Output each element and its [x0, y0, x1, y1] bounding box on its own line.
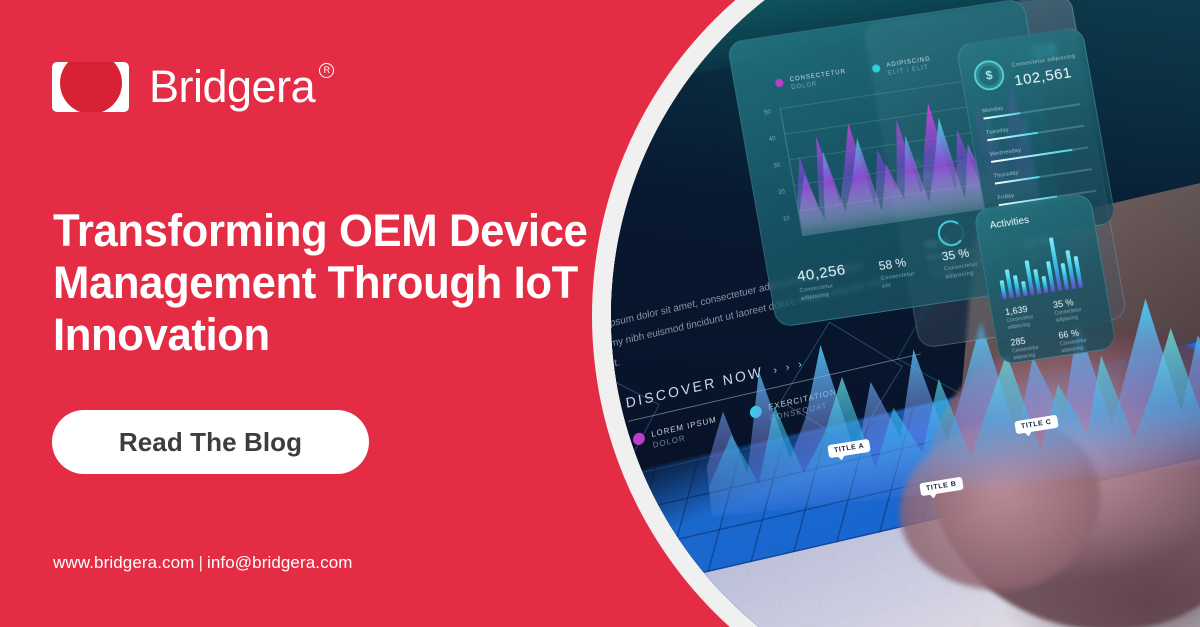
- activities-bar-chart: [993, 231, 1094, 300]
- legend-dot-icon: [775, 78, 784, 87]
- axis-tick: 30: [773, 163, 781, 170]
- promo-banner: COMMUNITY CONTACT US Lorem ipsum dolor s…: [0, 0, 1200, 627]
- legend-item: ADIPISCING ELIT / ELIT: [871, 55, 933, 80]
- axis-tick: 10: [783, 216, 791, 223]
- footer-email-link[interactable]: info@bridgera.com: [207, 553, 353, 572]
- hero-photo: COMMUNITY CONTACT US Lorem ipsum dolor s…: [611, 0, 1200, 627]
- page-title: Transforming OEM Device Management Throu…: [53, 205, 611, 361]
- stat-item: 285 Consectetur adipiscing: [1010, 332, 1056, 363]
- currency-text: Consectetur adipiscing 102,561: [1010, 45, 1080, 90]
- activities-stats: 1,639 Consectetur adipiscing 35 % Consec…: [1004, 294, 1104, 363]
- legend-text: ADIPISCING ELIT / ELIT: [886, 55, 933, 77]
- content-column: Bridgera R Transforming OEM Device Manag…: [0, 0, 640, 627]
- read-the-blog-button[interactable]: Read The Blog: [52, 410, 369, 474]
- logo-wordmark: Bridgera R: [149, 61, 315, 113]
- axis-tick: 20: [778, 189, 786, 196]
- weekday-row: Monday: [982, 94, 1081, 119]
- legend-sub: DOLOR: [791, 81, 818, 91]
- footer-contact: www.bridgera.com|info@bridgera.com: [53, 553, 353, 573]
- activities-title: Activities: [989, 215, 1030, 232]
- legend-item: CONSECTETUR DOLOR: [774, 68, 848, 94]
- weekday-row: Wednesday: [989, 138, 1088, 163]
- coin-dollar-icon: $: [972, 58, 1007, 92]
- stat-item: 66 % Consectetur adipiscing: [1058, 324, 1104, 355]
- weekday-row: Tuesday: [986, 116, 1085, 141]
- legend-text: CONSECTETUR DOLOR: [789, 68, 848, 92]
- stat-item: 58 % Consectetur elit: [878, 253, 925, 291]
- stat-item: 40,256 Consectetur adipiscing: [796, 260, 862, 303]
- footer-website-link[interactable]: www.bridgera.com: [53, 553, 194, 572]
- axis-tick: 40: [769, 136, 777, 143]
- legend-title: CONSECTETUR: [789, 69, 846, 83]
- weekday-row: Thursday: [993, 159, 1092, 184]
- logo-brand-name: Bridgera: [149, 61, 315, 112]
- progress-ring-icon: [936, 218, 966, 247]
- bridge-arch-logo-icon: [52, 62, 129, 112]
- bridgera-logo[interactable]: Bridgera R: [52, 61, 315, 113]
- stat-item: 1,639 Consectetur adipiscing: [1004, 301, 1050, 332]
- stat-label: Consectetur elit: [880, 269, 924, 291]
- stat-item: 35 % Consectetur adipiscing: [1052, 294, 1098, 325]
- legend-dot-icon: [871, 64, 880, 73]
- registered-trademark-icon: R: [319, 63, 334, 78]
- currency-header: $ Consectetur adipiscing 102,561: [971, 45, 1080, 96]
- footer-separator: |: [198, 553, 203, 572]
- axis-tick: 50: [764, 110, 772, 117]
